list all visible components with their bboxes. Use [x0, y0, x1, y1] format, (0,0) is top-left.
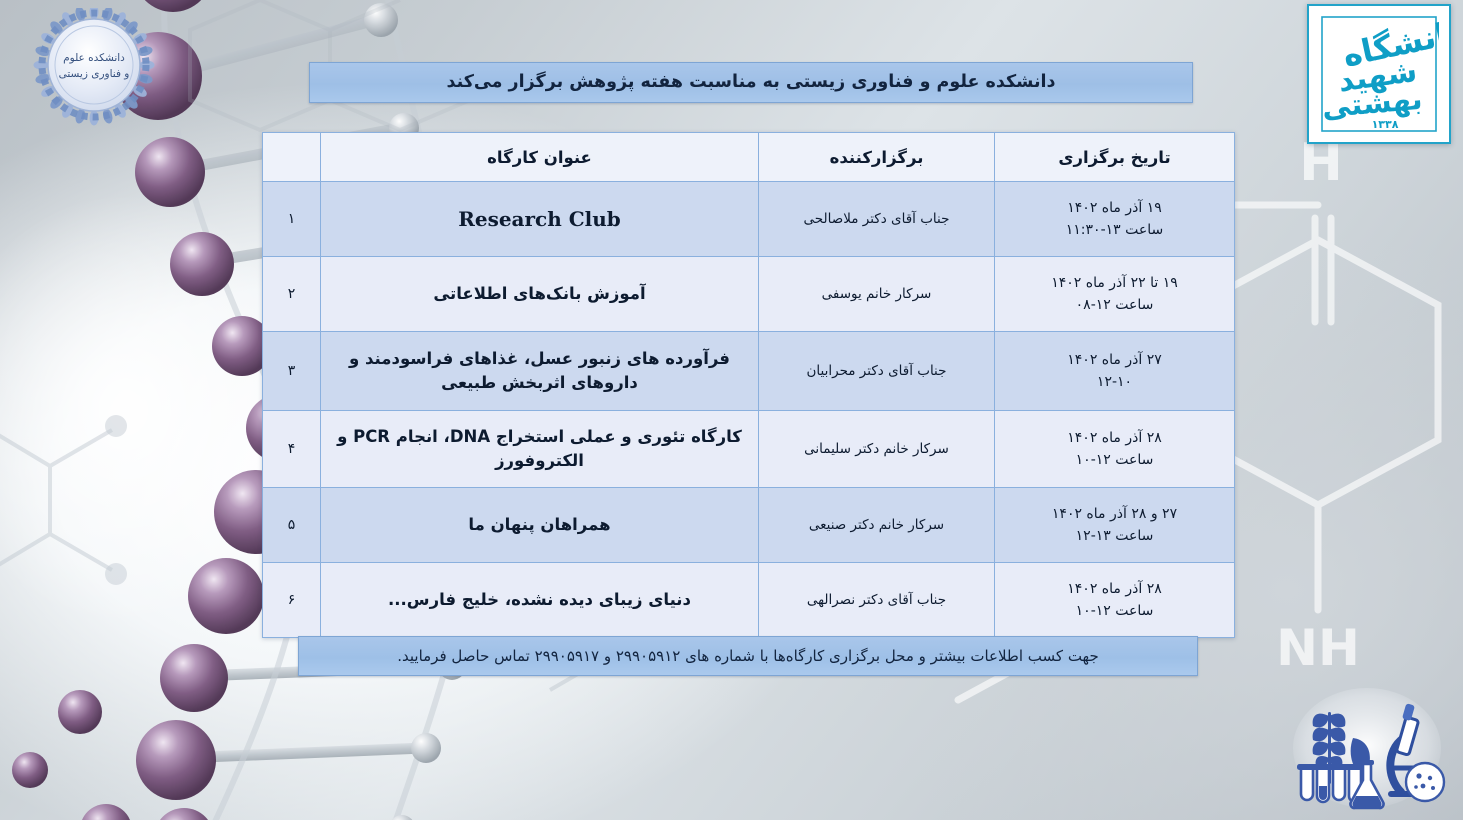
sbu-founding-year: ۱۳۳۸ — [1372, 118, 1399, 131]
cell-cluster-icon — [1406, 763, 1444, 801]
date-line-1: ۲۷ آذر ماه ۱۴۰۲ — [1067, 352, 1161, 368]
cell-date: ۲۷ آذر ماه ۱۴۰۲ ۱۲-۱۰ — [995, 332, 1235, 411]
table-row: ۲۸ آذر ماه ۱۴۰۲ ساعت ۱۲-۱۰ سرکار خانم دک… — [263, 411, 1235, 488]
table-row: ۲۸ آذر ماه ۱۴۰۲ ساعت ۱۲-۱۰ جناب آقای دکت… — [263, 563, 1235, 638]
cell-host: سرکار خانم یوسفی — [759, 257, 995, 332]
cell-row-number: ۶ — [263, 563, 321, 638]
date-line-1: ۱۹ آذر ماه ۱۴۰۲ — [1067, 200, 1161, 216]
column-header-host: برگزارکننده — [759, 133, 995, 182]
cell-row-number: ۳ — [263, 332, 321, 411]
cell-workshop-title: کارگاه تئوری و عملی استخراج DNA، انجام P… — [321, 411, 759, 488]
seal-line-1: دانشکده علوم — [63, 52, 125, 64]
cell-host: جناب آقای دکتر محرابیان — [759, 332, 995, 411]
date-line-2: ساعت ۱۳-۱۱:۳۰ — [1003, 219, 1226, 241]
chem-label-nh: NH — [1276, 619, 1360, 677]
sbu-calligraphy: دانشگاه شهید بهشتی ۱۳۳۸ — [1319, 14, 1439, 134]
poster-canvas: CH 3 H NH — [0, 0, 1463, 820]
column-header-number — [263, 133, 321, 182]
cell-row-number: ۲ — [263, 257, 321, 332]
cell-host: سرکار خانم دکتر سلیمانی — [759, 411, 995, 488]
date-line-2: ۱۲-۱۰ — [1003, 371, 1226, 393]
date-line-2: ساعت ۱۲-۱۰ — [1003, 449, 1226, 471]
table-row: ۱۹ آذر ماه ۱۴۰۲ ساعت ۱۳-۱۱:۳۰ جناب آقای … — [263, 182, 1235, 257]
cell-row-number: ۵ — [263, 488, 321, 563]
table-head: تاریخ برگزاری برگزارکننده عنوان کارگاه — [263, 133, 1235, 182]
cell-date: ۱۹ تا ۲۲ آذر ماه ۱۴۰۲ ساعت ۱۲-۰۸ — [995, 257, 1235, 332]
cell-workshop-title: آموزش بانک‌های اطلاعاتی — [321, 257, 759, 332]
table-body: ۱۹ آذر ماه ۱۴۰۲ ساعت ۱۳-۱۱:۳۰ جناب آقای … — [263, 182, 1235, 638]
date-line-1: ۲۸ آذر ماه ۱۴۰۲ — [1067, 430, 1161, 446]
cell-workshop-title: Research Club — [321, 182, 759, 257]
cell-date: ۱۹ آذر ماه ۱۴۰۲ ساعت ۱۳-۱۱:۳۰ — [995, 182, 1235, 257]
contact-info-banner: جهت کسب اطلاعات بیشتر و محل برگزاری کارگ… — [298, 636, 1198, 676]
date-line-2: ساعت ۱۳-۱۲ — [1003, 525, 1226, 547]
cell-host: سرکار خانم دکتر صنیعی — [759, 488, 995, 563]
date-line-1: ۲۸ آذر ماه ۱۴۰۲ — [1067, 581, 1161, 597]
date-line-1: ۲۷ و ۲۸ آذر ماه ۱۴۰۲ — [1052, 506, 1177, 522]
cell-date: ۲۸ آذر ماه ۱۴۰۲ ساعت ۱۲-۱۰ — [995, 563, 1235, 638]
cell-row-number: ۱ — [263, 182, 321, 257]
column-header-date: تاریخ برگزاری — [995, 133, 1235, 182]
faculty-seal-logo: دانشکده علوم و فناوری زیستی — [14, 8, 174, 126]
table-row: ۲۷ آذر ماه ۱۴۰۲ ۱۲-۱۰ جناب آقای دکتر محر… — [263, 332, 1235, 411]
cell-date: ۲۷ و ۲۸ آذر ماه ۱۴۰۲ ساعت ۱۳-۱۲ — [995, 488, 1235, 563]
cell-row-number: ۴ — [263, 411, 321, 488]
poster-title-text: دانشکده علوم و فناوری زیستی به مناسبت هف… — [447, 74, 1056, 92]
cell-host: جناب آقای دکتر ملاصالحی — [759, 182, 995, 257]
table-row: ۱۹ تا ۲۲ آذر ماه ۱۴۰۲ ساعت ۱۲-۰۸ سرکار خ… — [263, 257, 1235, 332]
cell-workshop-title: دنیای زیبای دیده نشده، خلیج فارس... — [321, 563, 759, 638]
biotechnology-emblem-logo — [1283, 682, 1451, 814]
poster-title-banner: دانشکده علوم و فناوری زیستی به مناسبت هف… — [309, 62, 1193, 103]
workshop-schedule-table: تاریخ برگزاری برگزارکننده عنوان کارگاه ۱… — [262, 132, 1235, 638]
date-line-1: ۱۹ تا ۲۲ آذر ماه ۱۴۰۲ — [1051, 275, 1178, 291]
cell-date: ۲۸ آذر ماه ۱۴۰۲ ساعت ۱۲-۱۰ — [995, 411, 1235, 488]
cell-host: جناب آقای دکتر نصرالهی — [759, 563, 995, 638]
contact-info-text: جهت کسب اطلاعات بیشتر و محل برگزاری کارگ… — [397, 649, 1099, 664]
cell-workshop-title: همراهان پنهان ما — [321, 488, 759, 563]
date-line-2: ساعت ۱۲-۰۸ — [1003, 294, 1226, 316]
table-row: ۲۷ و ۲۸ آذر ماه ۱۴۰۲ ساعت ۱۳-۱۲ سرکار خا… — [263, 488, 1235, 563]
date-line-2: ساعت ۱۲-۱۰ — [1003, 600, 1226, 622]
cell-workshop-title: فرآورده های زنبور عسل، غذاهای فراسودمند … — [321, 332, 759, 411]
column-header-workshop-title: عنوان کارگاه — [321, 133, 759, 182]
seal-line-2: و فناوری زیستی — [59, 68, 130, 80]
table-header-row: تاریخ برگزاری برگزارکننده عنوان کارگاه — [263, 133, 1235, 182]
shahid-beheshti-university-logo: دانشگاه شهید بهشتی ۱۳۳۸ — [1307, 4, 1451, 144]
